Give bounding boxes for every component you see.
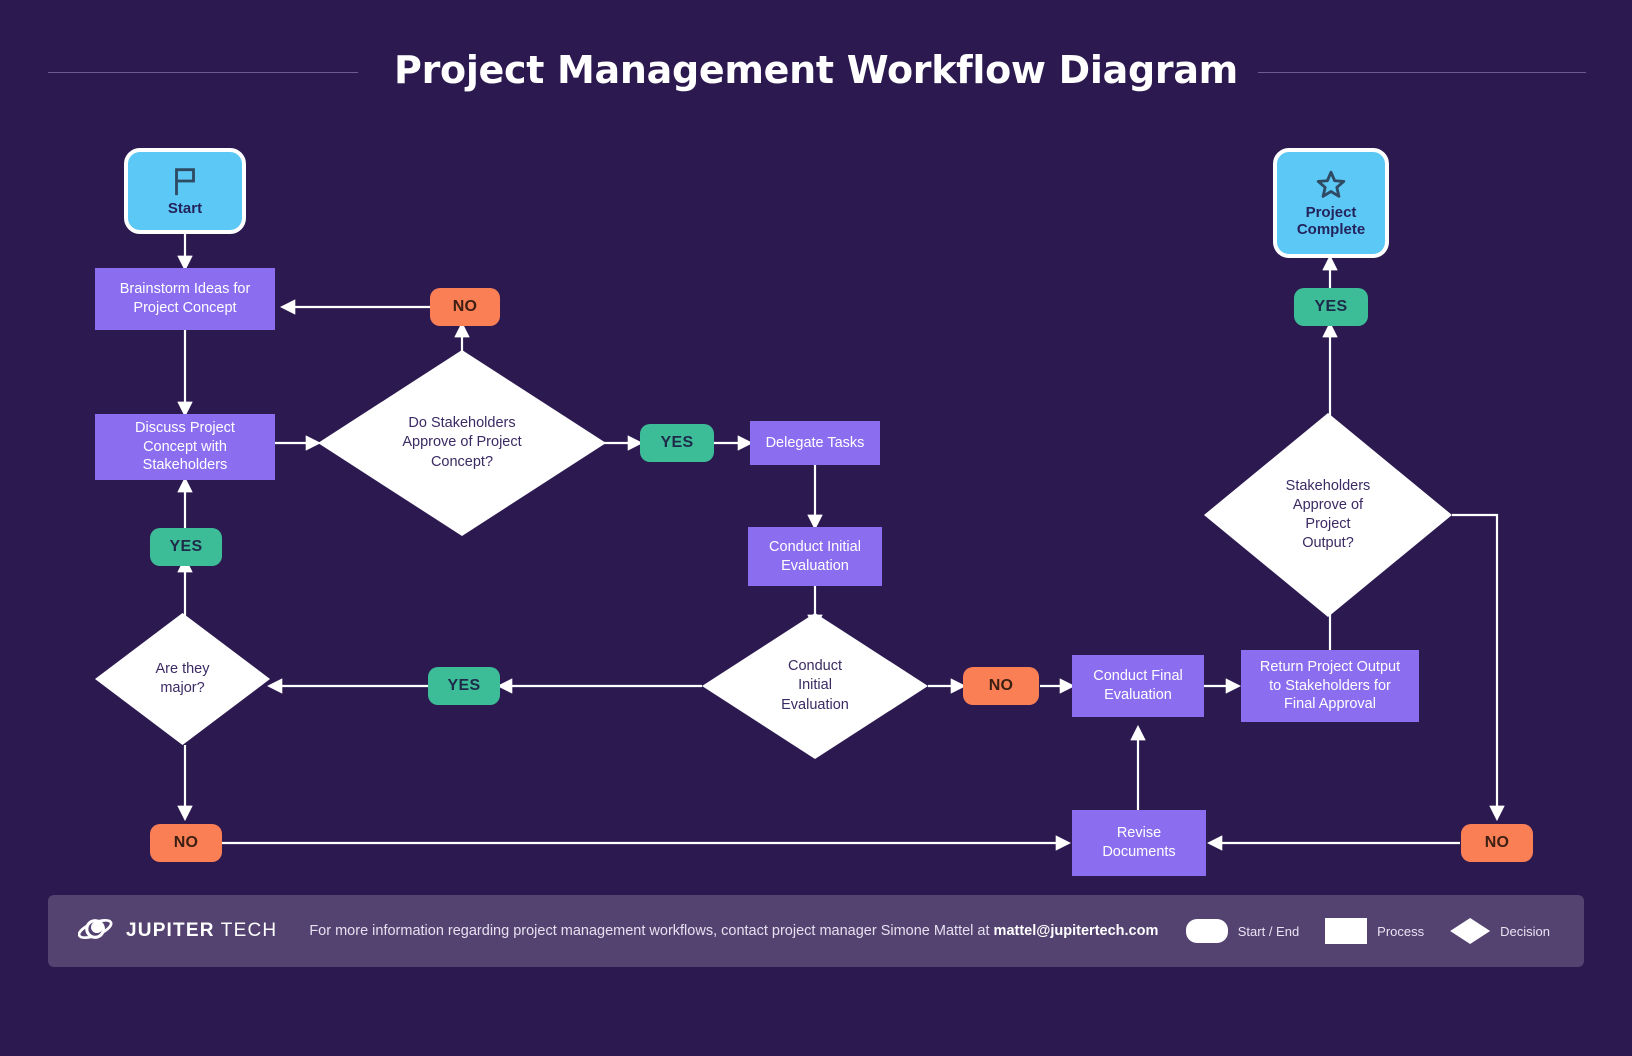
node-delegate-tasks[interactable]: Delegate Tasks — [750, 421, 880, 465]
node-conduct-initial-line2: Evaluation — [781, 557, 849, 576]
legend: Start / End Process Decision — [1186, 918, 1550, 944]
planet-icon — [78, 914, 114, 949]
decision-are-they-major[interactable]: Are they major? — [95, 613, 270, 745]
legend-item-start-end: Start / End — [1186, 919, 1299, 943]
node-revise-documents[interactable]: Revise Documents — [1072, 810, 1206, 876]
node-revise-line2: Documents — [1102, 843, 1175, 862]
footer-contact-sentence: For more information regarding project m… — [309, 923, 993, 939]
node-conduct-final-evaluation[interactable]: Conduct Final Evaluation — [1072, 655, 1204, 717]
node-conduct-initial-evaluation[interactable]: Conduct Initial Evaluation — [748, 527, 882, 586]
label-yes-discuss[interactable]: YES — [150, 528, 222, 566]
legend-swatch-rectangle — [1325, 918, 1367, 944]
node-start-label: Start — [168, 200, 202, 217]
star-icon — [1314, 168, 1348, 202]
node-discuss-line2: Concept with — [143, 438, 227, 457]
brand-name: JUPITER TECH — [126, 920, 277, 942]
node-discuss-project-concept[interactable]: Discuss Project Concept with Stakeholder… — [95, 414, 275, 480]
legend-label-decision: Decision — [1500, 924, 1550, 939]
node-discuss-line1: Discuss Project — [135, 419, 235, 438]
node-project-complete-label: Project Complete — [1297, 204, 1365, 239]
label-no-conduct-initial[interactable]: NO — [963, 667, 1039, 705]
node-start[interactable]: Start — [124, 148, 246, 234]
diagram-canvas: Project Management Workflow Diagram — [0, 0, 1632, 1056]
legend-item-decision: Decision — [1450, 918, 1550, 944]
label-yes-conduct-initial[interactable]: YES — [428, 667, 500, 705]
label-yes-approve-concept[interactable]: YES — [640, 424, 714, 462]
label-no-approve-concept[interactable]: NO — [430, 288, 500, 326]
footer-contact-email[interactable]: mattel@jupitertech.com — [994, 923, 1159, 939]
legend-label-start-end: Start / End — [1238, 924, 1299, 939]
legend-swatch-diamond — [1450, 918, 1490, 944]
node-delegate-label: Delegate Tasks — [766, 434, 865, 453]
decision-conduct-initial-text: Conduct Initial Evaluation — [734, 657, 897, 714]
decision-approve-output-text: Stakeholders Approve of Project Output? — [1239, 477, 1418, 554]
legend-swatch-rounded — [1186, 919, 1228, 943]
node-brainstorm-ideas[interactable]: Brainstorm Ideas for Project Concept — [95, 268, 275, 330]
decision-conduct-initial-evaluation[interactable]: Conduct Initial Evaluation — [702, 613, 928, 759]
node-conduct-initial-line1: Conduct Initial — [769, 538, 861, 557]
brand-logo: JUPITER TECH — [78, 914, 277, 949]
node-conduct-final-line1: Conduct Final — [1093, 667, 1182, 686]
label-yes-approve-output[interactable]: YES — [1294, 288, 1368, 326]
decision-approve-concept-text: Do Stakeholders Approve of Project Conce… — [358, 414, 565, 471]
decision-approve-output[interactable]: Stakeholders Approve of Project Output? — [1204, 413, 1452, 617]
node-project-complete[interactable]: Project Complete — [1273, 148, 1389, 258]
node-return-output-line2: to Stakeholders for — [1269, 677, 1391, 696]
node-revise-line1: Revise — [1117, 824, 1161, 843]
flag-icon — [168, 164, 202, 198]
node-conduct-final-line2: Evaluation — [1104, 686, 1172, 705]
node-return-output-line3: Final Approval — [1284, 695, 1376, 714]
label-no-are-they-major[interactable]: NO — [150, 824, 222, 862]
footer-contact-text: For more information regarding project m… — [309, 923, 1158, 939]
node-return-output-line1: Return Project Output — [1260, 658, 1400, 677]
legend-label-process: Process — [1377, 924, 1424, 939]
node-discuss-line3: Stakeholders — [143, 456, 228, 475]
legend-item-process: Process — [1325, 918, 1424, 944]
decision-are-they-major-text: Are they major? — [120, 660, 246, 698]
node-return-project-output[interactable]: Return Project Output to Stakeholders fo… — [1241, 650, 1419, 722]
footer-bar: JUPITER TECH For more information regard… — [48, 895, 1584, 967]
decision-approve-concept[interactable]: Do Stakeholders Approve of Project Conce… — [318, 350, 606, 536]
label-no-approve-output[interactable]: NO — [1461, 824, 1533, 862]
node-brainstorm-line2: Project Concept — [133, 299, 236, 318]
node-brainstorm-line1: Brainstorm Ideas for — [120, 280, 251, 299]
